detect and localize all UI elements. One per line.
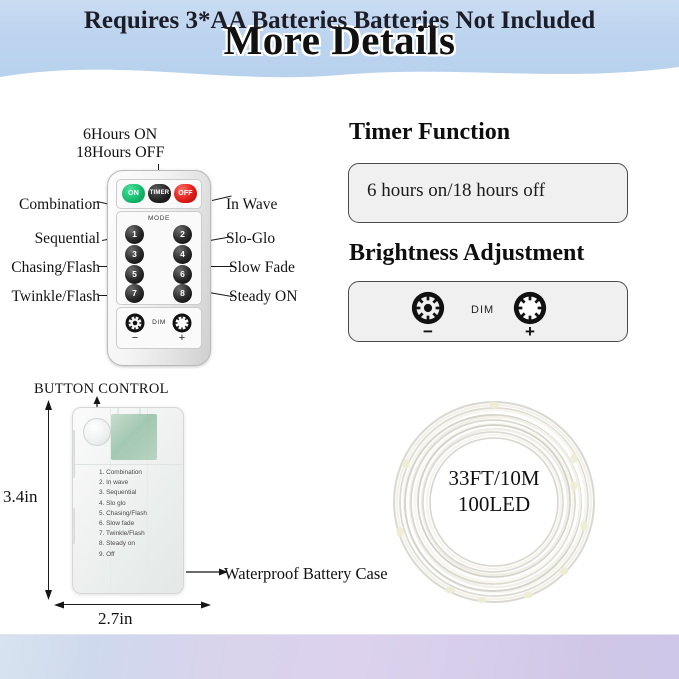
remote-timer-note-line1: 6Hours ON: [83, 126, 157, 144]
product-detail-infographic: More Details 6Hours ON 18Hours OFF Combi…: [0, 0, 679, 679]
waterproof-battery-case-label: Waterproof Battery Case: [224, 564, 388, 584]
height-dimension-arrow-top: [41, 400, 56, 412]
width-dimension-label: 2.7in: [98, 609, 132, 629]
case-mode-item: 9. Off: [99, 550, 147, 560]
remote-label-slo-glo: Slo-Glo: [226, 230, 275, 248]
remote-label-slow-fade: Slow Fade: [229, 259, 295, 277]
remote-dim-minus-sign: −: [125, 332, 145, 344]
led-coil-count: 100LED: [378, 491, 610, 517]
case-mode-item: 1. Combination: [99, 468, 147, 478]
case-clip-left-bottom: [72, 508, 75, 544]
led-coil-spec: 33FT/10M 100LED: [378, 465, 610, 517]
remote-mode-button-1[interactable]: 1: [125, 225, 144, 244]
led-coil-length: 33FT/10M: [378, 465, 610, 491]
case-mode-item: 3. Sequential: [99, 488, 147, 498]
remote-control[interactable]: ON TIMER OFF MODE 1 2 3 4 5 6 7 8: [107, 170, 211, 366]
case-clip-left-top: [72, 430, 75, 478]
remote-off-button[interactable]: OFF: [174, 184, 197, 203]
remote-mode-button-3[interactable]: 3: [125, 245, 144, 264]
remote-label-in-wave: In Wave: [226, 196, 277, 214]
battery-case-callout-arrow: [186, 566, 228, 578]
remote-mode-button-8[interactable]: 8: [173, 284, 192, 303]
remote-timer-note-line2: 18Hours OFF: [76, 144, 164, 162]
case-mode-item: 6. Slow fade: [99, 519, 147, 529]
remote-power-panel: ON TIMER OFF: [116, 179, 202, 209]
remote-label-twinkle-flash: Twinkle/Flash: [0, 288, 100, 306]
footer-banner: [0, 634, 679, 679]
remote-dim-panel: DIM − +: [116, 307, 202, 349]
case-circuit-board: [111, 414, 157, 460]
case-mode-item: 7. Twinkle/Flash: [99, 529, 147, 539]
case-mode-item: 4. Slo glo: [99, 499, 147, 509]
case-clip-right-bottom: [183, 516, 184, 548]
case-mode-list: 1. Combination 2. In wave 3. Sequential …: [99, 468, 147, 560]
remote-mode-panel: MODE 1 2 3 4 5 6 7 8: [116, 211, 202, 305]
width-dimension-arrow-right: [199, 598, 211, 612]
brightness-up-knob-icon[interactable]: [513, 291, 547, 325]
remote-label-combination: Combination: [0, 196, 100, 214]
remote-mode-button-5[interactable]: 5: [125, 265, 144, 284]
brightness-down-knob-icon[interactable]: [411, 291, 445, 325]
mode-label: MODE: [117, 215, 201, 222]
brightness-adjustment-heading: Brightness Adjustment: [349, 240, 584, 267]
remote-label-chasing-flash: Chasing/Flash: [0, 259, 100, 277]
case-mode-item: 2. In wave: [99, 478, 147, 488]
remote-mode-button-2[interactable]: 2: [173, 225, 192, 244]
timer-value-box: 6 hours on/18 hours off: [348, 163, 628, 223]
case-clip-right-top: [183, 430, 184, 470]
remote-label-steady-on: Steady ON: [229, 288, 297, 306]
width-dimension-line: [60, 604, 204, 605]
height-dimension-line: [48, 405, 49, 595]
remote-timer-button[interactable]: TIMER: [148, 184, 171, 203]
case-mode-item: 8. Steady on: [99, 539, 147, 549]
case-lid-seam: [73, 464, 183, 465]
brightness-plus-sign: +: [513, 322, 547, 342]
waterproof-battery-case: 1. Combination 2. In wave 3. Sequential …: [72, 407, 184, 594]
remote-label-sequential: Sequential: [0, 230, 100, 248]
width-dimension-arrow-left: [54, 598, 66, 612]
remote-mode-button-7[interactable]: 7: [125, 284, 144, 303]
brightness-control-box: DIM − +: [348, 281, 628, 342]
timer-function-heading: Timer Function: [349, 119, 510, 146]
remote-on-button[interactable]: ON: [122, 184, 145, 203]
remote-dim-up-knob-icon[interactable]: [172, 313, 192, 333]
timer-value-text: 6 hours on/18 hours off: [367, 180, 545, 202]
remote-mode-button-6[interactable]: 6: [173, 265, 192, 284]
height-dimension-label: 3.4in: [3, 487, 37, 507]
brightness-dim-label: DIM: [471, 304, 494, 316]
case-mode-item: 5. Chasing/Flash: [99, 509, 147, 519]
footer-note: Requires 3*AA Batteries Batteries Not In…: [0, 7, 679, 35]
remote-mode-button-4[interactable]: 4: [173, 245, 192, 264]
remote-dim-plus-sign: +: [172, 332, 192, 344]
brightness-minus-sign: −: [411, 322, 445, 342]
case-control-button[interactable]: [83, 418, 111, 446]
